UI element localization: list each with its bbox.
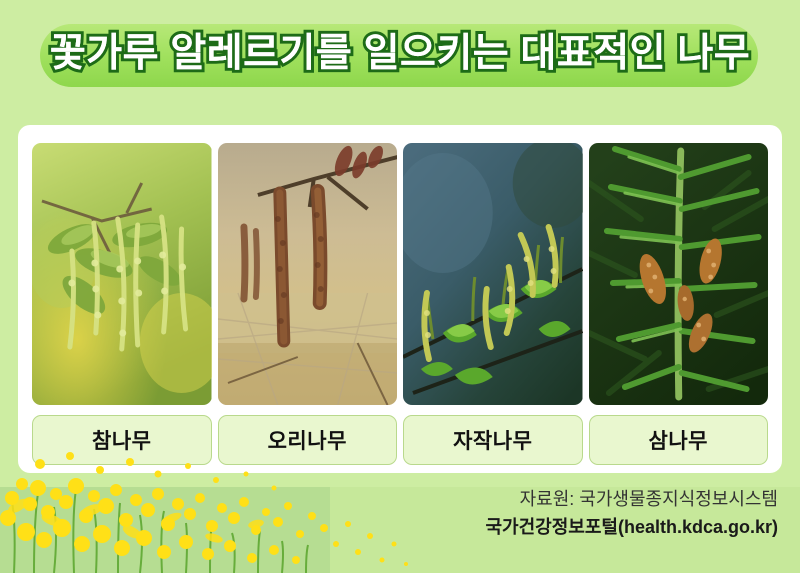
birch-catkins-photo	[403, 143, 583, 405]
page-title: 꽃가루 알레르기를 일으키는 대표적인 나무	[0, 22, 800, 78]
tree-card: 참나무 오리나무 자작나무 삼나무	[18, 125, 782, 473]
source-credit: 자료원: 국가생물종지식정보시스템 국가건강정보포털(health.kdca.g…	[485, 487, 778, 540]
tree-label-birch-text: 자작나무	[453, 425, 532, 455]
pollen-allergy-tree-infographic: 꽃가루 알레르기를 일으키는 대표적인 나무 꽃가루 알레르기를 일으키는 대표…	[0, 0, 800, 573]
tree-label-alder-text: 오리나무	[268, 425, 347, 455]
tree-label-oak[interactable]: 참나무	[32, 415, 212, 465]
oak-catkins-photo	[32, 143, 212, 405]
tree-photo-row	[32, 143, 768, 405]
tree-label-birch[interactable]: 자작나무	[403, 415, 583, 465]
alder-catkins-photo	[218, 143, 398, 405]
source-line-2: 국가건강정보포털(health.kdca.go.kr)	[485, 515, 778, 541]
source-line-1: 자료원: 국가생물종지식정보시스템	[485, 487, 778, 513]
tree-label-alder[interactable]: 오리나무	[218, 415, 398, 465]
tree-label-cedar[interactable]: 삼나무	[589, 415, 769, 465]
cedar-pollen-cones-photo	[589, 143, 769, 405]
background-lower-left-band	[0, 487, 330, 573]
tree-label-cedar-text: 삼나무	[649, 425, 708, 455]
tree-label-row: 참나무 오리나무 자작나무 삼나무	[32, 415, 768, 465]
tree-label-oak-text: 참나무	[92, 425, 151, 455]
